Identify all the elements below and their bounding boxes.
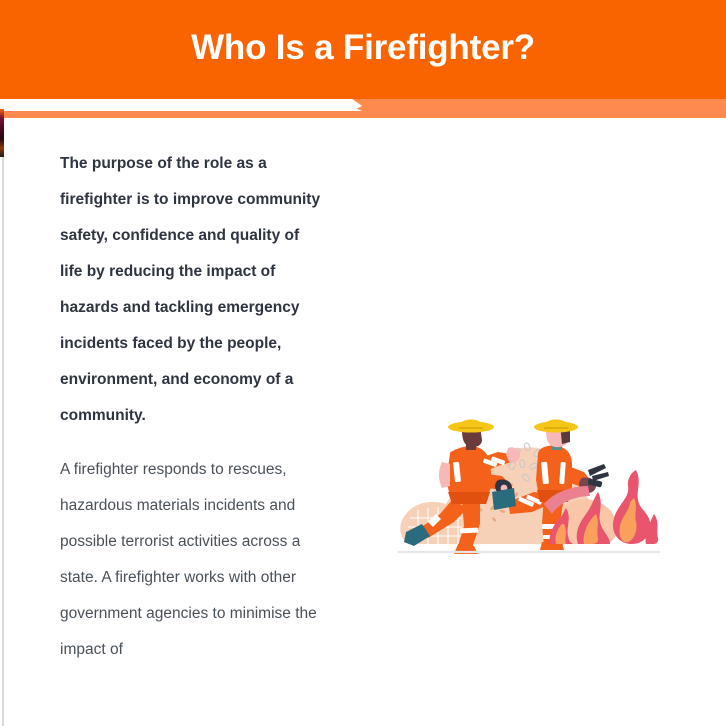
header-accent-stripes bbox=[0, 99, 726, 121]
fire-hose-nozzle bbox=[587, 464, 609, 488]
slide-page: Who Is a Firefighter? The purpose of the… bbox=[0, 0, 726, 726]
accent-base-white bbox=[0, 118, 726, 121]
page-title: Who Is a Firefighter? bbox=[0, 0, 726, 99]
lead-paragraph: The purpose of the role as a firefighter… bbox=[60, 146, 322, 434]
right-ff-helmet-shade bbox=[544, 427, 568, 429]
left-ff-helmet-dome bbox=[459, 420, 483, 428]
accent-separator bbox=[0, 105, 362, 111]
left-edge-rule bbox=[2, 157, 4, 726]
right-ff-helmet-dome bbox=[544, 420, 568, 428]
firefighter-illustration bbox=[392, 418, 664, 558]
body-paragraph: A firefighter responds to rescues, hazar… bbox=[60, 452, 322, 668]
left-ff-helmet-shade bbox=[459, 427, 483, 429]
accent-notch-left bbox=[0, 99, 44, 105]
left-ff-jacket-hem bbox=[448, 492, 490, 504]
left-edge-gradient-sliver bbox=[0, 109, 4, 157]
left-ff-backpack bbox=[439, 462, 450, 488]
content-column: The purpose of the role as a firefighter… bbox=[60, 146, 322, 668]
